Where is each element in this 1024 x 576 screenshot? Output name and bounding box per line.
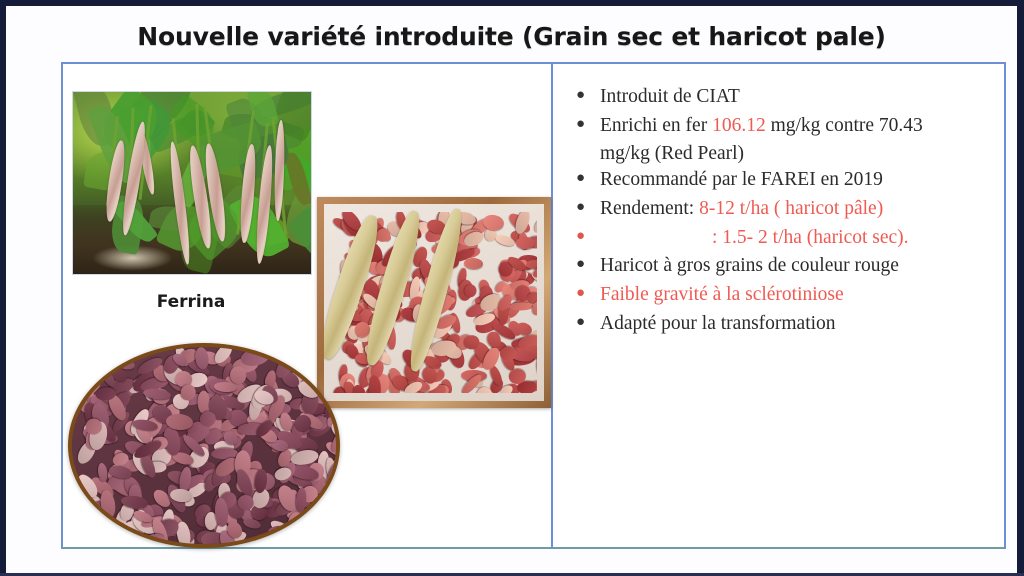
- bullet-text-1: Introduit de CIAT: [600, 86, 740, 107]
- bullet-list: ● Introduit de CIAT ● Enrichi en fer 106…: [568, 84, 1006, 340]
- bullet-text-6: Haricot à gros grains de couleur rouge: [600, 255, 899, 276]
- column-divider: [551, 62, 553, 549]
- bullet-text-2-prefix: Enrichi en fer: [600, 115, 712, 136]
- bullet-item-3: ● Recommandé par le FAREI en 2019: [568, 167, 1006, 193]
- bullet-text-7: Faible gravité à la sclérotiniose: [600, 284, 844, 305]
- bullet-item-8: ● Adapté pour la transformation: [568, 311, 1006, 337]
- bullet-dot-icon: ●: [576, 114, 585, 136]
- dry-beans-inner: [324, 204, 544, 401]
- oval-beans-mass: [72, 347, 336, 544]
- bullet-item-2-line2: mg/kg (Red Pearl): [568, 141, 1006, 167]
- bullet-item-1: ● Introduit de CIAT: [568, 84, 1006, 110]
- bullet-text-3: Recommandé par le FAREI en 2019: [600, 169, 883, 190]
- bullet-item-4: ● Rendement: 8-12 t/ha ( haricot pâle): [568, 196, 1006, 222]
- bullet-item-6: ● Haricot à gros grains de couleur rouge: [568, 253, 1006, 279]
- bullet-text-8: Adapté pour la transformation: [600, 313, 836, 334]
- bullet-dot-icon: ●: [576, 226, 585, 248]
- iron-value-highlight: 106.12: [712, 115, 766, 136]
- bullet-item-2: ● Enrichi en fer 106.12 mg/kg contre 70.…: [568, 113, 1006, 139]
- bullet-dot-icon: ●: [576, 312, 585, 334]
- bean-plants-photo: [72, 91, 312, 275]
- dry-red-beans-photo: [317, 197, 551, 408]
- bullet-dot-icon: ●: [576, 254, 585, 276]
- screen-edge-right: [1017, 0, 1024, 576]
- bullet-dot-icon: ●: [576, 168, 585, 190]
- variety-caption: Ferrina: [72, 292, 310, 312]
- bullet-dot-icon: ●: [576, 197, 585, 219]
- yield-dry-highlight: : 1.5- 2 t/ha (haricot sec).: [712, 227, 909, 248]
- bullet-text-2-suffix: mg/kg contre 70.43: [766, 115, 923, 136]
- bullet-dot-icon: ●: [576, 283, 585, 305]
- oval-beans-photo: [68, 343, 340, 548]
- slide-root: Nouvelle variété introduite (Grain sec e…: [0, 0, 1024, 576]
- oval-mask: [68, 343, 340, 548]
- yield-fresh-highlight: 8-12 t/ha ( haricot pâle): [699, 198, 883, 219]
- bullet-text-4-prefix: Rendement:: [600, 198, 699, 219]
- bullet-item-5: ● : 1.5- 2 t/ha (haricot sec).: [568, 225, 1006, 251]
- bullet-item-7: ● Faible gravité à la sclérotiniose: [568, 282, 1006, 308]
- bullet-dot-icon: ●: [576, 85, 585, 107]
- slide-title: Nouvelle variété introduite (Grain sec e…: [6, 22, 1017, 51]
- slide-canvas: Nouvelle variété introduite (Grain sec e…: [6, 6, 1017, 573]
